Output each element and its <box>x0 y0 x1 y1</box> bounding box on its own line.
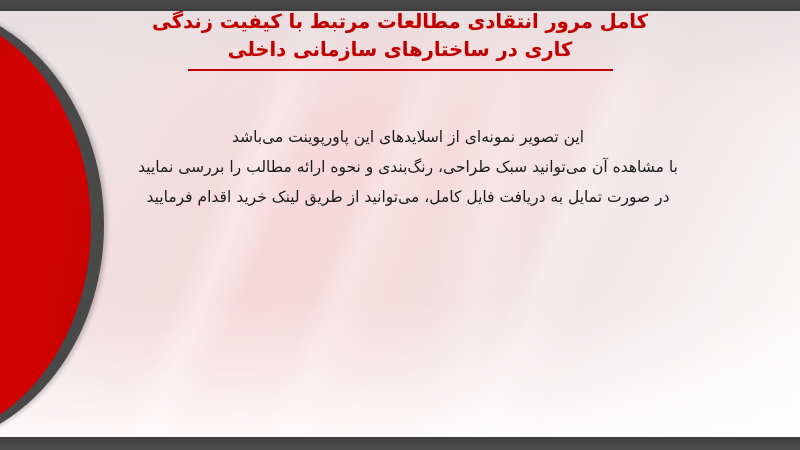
slide-title: کامل مرور انتقادی مطالعات مرتبط با کیفیت… <box>132 8 668 71</box>
body-line-2: با مشاهده آن می‌توانید سبک طراحی، رنگ‌بن… <box>120 152 696 182</box>
body-line-3: در صورت تمایل به دریافت فایل کامل، می‌تو… <box>120 182 696 212</box>
body-line-1: این تصویر نمونه‌ای از اسلایدهای این پاور… <box>120 122 696 152</box>
top-frame-bar <box>0 0 800 11</box>
slide-title-line-1: کامل مرور انتقادی مطالعات مرتبط با کیفیت… <box>132 8 668 36</box>
bottom-frame-bar <box>0 437 800 450</box>
slide-title-line-2: کاری در ساختارهای سازمانی داخلی <box>132 36 668 64</box>
slide-canvas: کامل مرور انتقادی مطالعات مرتبط با کیفیت… <box>0 0 800 450</box>
slide-body-text: این تصویر نمونه‌ای از اسلایدهای این پاور… <box>120 122 696 213</box>
title-divider-rule <box>188 69 613 71</box>
left-red-lens-decoration <box>0 2 104 448</box>
